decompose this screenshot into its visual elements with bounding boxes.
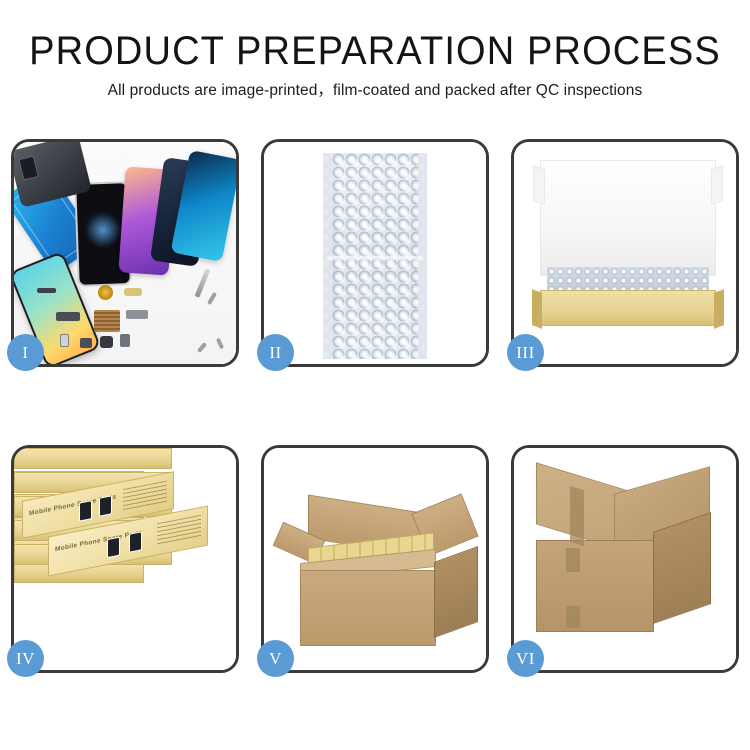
flex-cable-part-1 bbox=[56, 312, 80, 321]
copper-coil-part bbox=[98, 285, 113, 300]
step-badge-5: V bbox=[257, 640, 294, 677]
step-panel-3: III bbox=[511, 139, 739, 367]
mailer-base bbox=[540, 290, 716, 326]
box-screen-image bbox=[129, 531, 142, 553]
box-screen-image bbox=[107, 537, 120, 559]
step-5-image bbox=[264, 448, 486, 670]
step-2-image bbox=[264, 142, 486, 364]
sealed-carton-illustration bbox=[514, 448, 736, 670]
step-panel-4: Mobile Phone Spare Parts Mobile Phone Sp… bbox=[11, 445, 239, 673]
page-subtitle: All products are image-printed，film-coat… bbox=[0, 81, 750, 101]
chip-part-3 bbox=[100, 336, 113, 348]
flex-cable-part-2 bbox=[126, 310, 148, 319]
step-4-image: Mobile Phone Spare Parts Mobile Phone Sp… bbox=[14, 448, 236, 670]
open-carton-illustration bbox=[264, 448, 486, 670]
screw-part-1 bbox=[207, 292, 217, 305]
chip-part-4 bbox=[120, 334, 130, 347]
box-screen-image bbox=[99, 495, 112, 517]
product-preparation-infographic: PRODUCT PREPARATION PROCESS All products… bbox=[0, 0, 750, 750]
step-badge-1: I bbox=[7, 334, 44, 371]
carton-side-face bbox=[653, 512, 711, 624]
gold-contact-part bbox=[124, 288, 142, 296]
box-spec-lines bbox=[123, 481, 167, 512]
header: PRODUCT PREPARATION PROCESS All products… bbox=[0, 28, 750, 101]
bubble-wrap-illustration bbox=[264, 142, 486, 364]
stack-box bbox=[14, 448, 172, 469]
carton-front-face bbox=[536, 540, 654, 632]
step-badge-4: IV bbox=[7, 640, 44, 677]
tweezers-tool bbox=[195, 268, 211, 298]
chip-part-1 bbox=[60, 334, 69, 347]
box-screen-image bbox=[79, 500, 92, 522]
step-3-image bbox=[514, 142, 736, 364]
bubble-wrap-seam bbox=[327, 256, 423, 260]
step-1-image bbox=[14, 142, 236, 364]
connector-grid-part bbox=[94, 310, 120, 332]
screw-part-3 bbox=[197, 342, 207, 353]
open-mailer-box-illustration bbox=[514, 142, 736, 364]
stacked-boxes-illustration: Mobile Phone Spare Parts Mobile Phone Sp… bbox=[14, 448, 236, 670]
process-step-grid: I II III bbox=[11, 139, 739, 673]
bubble-wrap-sheet bbox=[323, 153, 427, 359]
step-panel-5: V bbox=[261, 445, 489, 673]
step-panel-6: VI bbox=[511, 445, 739, 673]
step-panel-2: II bbox=[261, 139, 489, 367]
packing-tape-lower bbox=[566, 606, 580, 628]
speaker-part bbox=[37, 288, 56, 293]
packing-tape-upper bbox=[566, 548, 580, 572]
phones-and-parts-illustration bbox=[14, 142, 236, 364]
chip-part-2 bbox=[80, 338, 92, 348]
step-6-image bbox=[514, 448, 736, 670]
packing-tape-top bbox=[570, 486, 584, 546]
box-spec-lines bbox=[157, 515, 201, 546]
mailer-lid bbox=[540, 160, 716, 276]
step-badge-6: VI bbox=[507, 640, 544, 677]
step-badge-2: II bbox=[257, 334, 294, 371]
carton-front-face bbox=[300, 570, 436, 646]
carton-side-face bbox=[434, 546, 478, 638]
page-title: PRODUCT PREPARATION PROCESS bbox=[19, 28, 732, 74]
step-badge-3: III bbox=[507, 334, 544, 371]
step-panel-1: I bbox=[11, 139, 239, 367]
screw-part-2 bbox=[216, 338, 224, 350]
